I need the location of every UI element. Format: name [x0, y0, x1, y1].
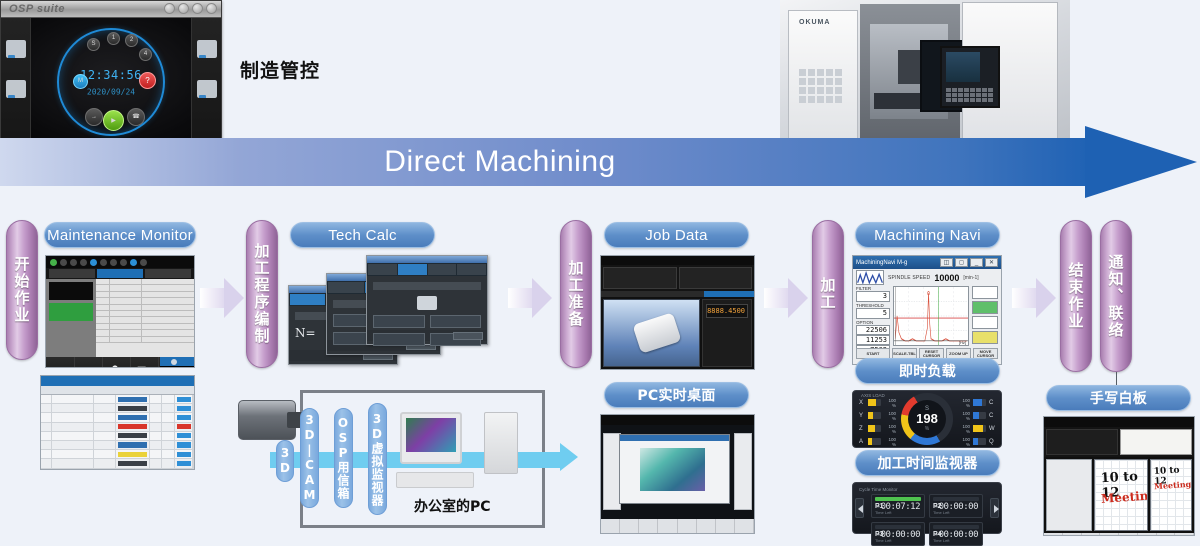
- mn-view-buttons[interactable]: [972, 286, 998, 346]
- lm-axis-label: Y: [859, 413, 865, 419]
- lm-axis-row: 100 %C: [958, 411, 995, 421]
- office-pc-tower: [484, 412, 518, 474]
- flow-arrow-3-icon: [764, 278, 808, 318]
- tech-calc-dialog-front[interactable]: [366, 255, 488, 345]
- office-pc-caption: 办公室的PC: [414, 496, 491, 516]
- lm-window-title: AXIS LOAD: [861, 393, 885, 398]
- pill-3dcam[interactable]: 3D|CAM: [300, 408, 319, 508]
- lm-left-axes: X100 % Y100 % Z100 % A100 %: [859, 398, 896, 447]
- mm-status-box: [49, 282, 93, 300]
- manufacturing-control-label: 制造管控: [240, 56, 320, 83]
- maintenance-table-screenshot[interactable]: [40, 375, 195, 470]
- machine-left-cabinet: OKUMA: [788, 10, 858, 140]
- wb-upper-panels: [1044, 427, 1194, 457]
- lm-axis-label: W: [989, 426, 995, 432]
- ct-slot-time: -00:00:00: [934, 530, 978, 540]
- ct-slot: P4Time Left-00:00:00: [929, 522, 983, 546]
- card-label-job-data[interactable]: Job Data: [604, 222, 749, 248]
- stage-label-end-work: 结束作业: [1066, 262, 1087, 330]
- window-button-3[interactable]: [192, 3, 203, 14]
- pill-label-3d: 3D: [278, 446, 292, 476]
- card-label-machining-navi[interactable]: Machining Navi: [855, 222, 1000, 248]
- stage-label-machining-prep: 加工准备: [566, 260, 587, 328]
- surface-view-icon[interactable]: [972, 331, 998, 344]
- banner-title: Direct Machining: [0, 138, 1000, 186]
- dial-button-run[interactable]: ▶: [103, 110, 124, 131]
- dial-button-stm[interactable]: S: [87, 38, 100, 51]
- pd-main: [601, 425, 754, 519]
- osp-radial-dial[interactable]: 12:34:56 2020/09/24 S 1 2 4 M ? → ▶ ☎: [57, 28, 165, 136]
- close-icon[interactable]: ✕: [985, 258, 998, 267]
- ct-slot: P3Time Left-00:00:00: [871, 522, 925, 546]
- osp-window-buttons[interactable]: [164, 3, 217, 14]
- jd-panel-left: [603, 267, 677, 289]
- jd-panel-right: [679, 267, 753, 289]
- direct-machining-banner: Direct Machining: [0, 130, 1200, 194]
- pill-label-3d-virtual-monitor: 3D虚拟监视器: [369, 412, 386, 507]
- stage-pill-machining-prep[interactable]: 加工准备: [560, 220, 592, 368]
- card-label-maintenance-monitor[interactable]: Maintenance Monitor: [44, 222, 196, 248]
- window-button-4[interactable]: [206, 3, 217, 14]
- calc-button[interactable]: [373, 315, 425, 328]
- load-meter-widget[interactable]: AXIS LOAD X100 % Y100 % Z100 % A100 % S …: [852, 390, 1002, 448]
- table-row: [41, 413, 194, 422]
- maintenance-icon[interactable]: [197, 40, 217, 58]
- dial-button-4d[interactable]: 4: [139, 48, 152, 61]
- ct-next-button[interactable]: [990, 498, 999, 518]
- lm-axis-row: Y100 %: [859, 411, 896, 421]
- lm-gauge-value: 198: [916, 412, 938, 426]
- dial-button-mode[interactable]: M: [73, 74, 88, 89]
- stage-label-notify-contact: 通知、联络: [1106, 254, 1127, 339]
- pc-desktop-screenshot[interactable]: [600, 414, 755, 534]
- stage-label-program-creation: 加工程序编制: [252, 243, 273, 345]
- pd-toolbar[interactable]: [601, 415, 754, 425]
- jd-dro-value: 8888.4500: [706, 304, 748, 318]
- table-subheader: [41, 386, 194, 395]
- header-band: OSP suite 12:34:56: [0, 0, 1200, 200]
- mm-table: [96, 279, 194, 357]
- lm-axis-row: 100 %W: [958, 424, 995, 434]
- mn-window-buttons[interactable]: ◫ ◻ _ ✕: [940, 258, 998, 267]
- lm-axis-row: X100 %: [859, 398, 896, 408]
- dial-button-m1[interactable]: 1: [107, 32, 120, 45]
- osp-date: 2020/09/24: [87, 87, 135, 96]
- machining-navi-screenshot[interactable]: MachiningNavi M-g ◫ ◻ _ ✕ SPINDLE SPEED …: [852, 255, 1002, 365]
- pill-3d[interactable]: 3D: [276, 440, 294, 482]
- dialog-titlebar[interactable]: [367, 256, 487, 263]
- mn-speed-row: SPINDLE SPEED 10000 [min-1]: [853, 269, 1001, 286]
- lm-right-axes: 100 %C 100 %C 100 %W 100 %Q: [958, 398, 995, 447]
- jd-workpiece-model: [633, 313, 682, 355]
- monitor-screen: [406, 418, 456, 452]
- tech-calc-screenshot[interactable]: N=: [288, 255, 508, 370]
- machine-control-panel[interactable]: [940, 46, 1000, 108]
- minimize-icon[interactable]: _: [970, 258, 983, 267]
- cycle-time-monitor-widget[interactable]: Cycle Time Monitor P1Time Left-00:07:12 …: [852, 482, 1002, 534]
- osp-left-rail[interactable]: [1, 18, 31, 145]
- maintenance-monitor-screenshot[interactable]: [45, 255, 195, 368]
- table-row: [41, 450, 194, 459]
- lm-axis-row: A100 %: [859, 437, 896, 447]
- wb-note-large[interactable]: 10 to 12 Meeting: [1094, 459, 1148, 531]
- lm-axis-percent: 100 %: [884, 437, 896, 447]
- pill-3d-virtual-monitor[interactable]: 3D虚拟监视器: [368, 403, 387, 515]
- mm-program-icon[interactable]: [130, 357, 158, 368]
- lm-axis-percent: 100 %: [958, 437, 970, 447]
- ct-slot-time: -00:07:12: [876, 502, 920, 512]
- jd-softkeys[interactable]: [601, 369, 754, 370]
- spindle-unit-photo: [238, 400, 296, 440]
- wb-left-panel: [1046, 459, 1092, 531]
- flow-arrow-2-icon: [508, 278, 552, 318]
- window-button-2[interactable]: [178, 3, 189, 14]
- lm-axis-row: Z100 %: [859, 424, 896, 434]
- cnc-machine-photo: OKUMA: [780, 0, 1070, 148]
- workflow-area: 开始作业 Maintenance Monitor: [0, 200, 1200, 540]
- table-header-bar: [41, 376, 194, 386]
- calculator-icon[interactable]: [197, 80, 217, 98]
- table-row: [41, 459, 194, 468]
- job-data-screenshot[interactable]: 8888.4500: [600, 255, 755, 370]
- milling-tool-icon: [417, 296, 437, 310]
- ct-slot-time: -00:00:00: [876, 530, 920, 540]
- lm-axis-percent: 100 %: [884, 411, 896, 421]
- lm-axis-row: 100 %Q: [958, 437, 995, 447]
- stage-pill-notify-contact[interactable]: 通知、联络: [1100, 220, 1132, 372]
- ct-slot: P2Time Left-00:00:00: [929, 494, 983, 518]
- mm-user-stack[interactable]: [160, 357, 194, 368]
- osp-title-text: OSP suite: [9, 3, 65, 15]
- tool-data-icon[interactable]: [6, 80, 26, 98]
- jd-dro-panel: 8888.4500: [702, 299, 752, 367]
- lm-axis-label: X: [859, 400, 865, 406]
- table-row: [41, 441, 194, 450]
- machine-vent-grid: [799, 69, 842, 103]
- mn-threshold-input[interactable]: 5: [856, 308, 890, 319]
- office-keyboard: [396, 472, 474, 488]
- lm-axis-label: A: [859, 439, 865, 445]
- end-button[interactable]: [453, 332, 483, 340]
- calc-button[interactable]: [430, 315, 482, 328]
- ct-slots: P1Time Left-00:07:12 P2Time Left-00:00:0…: [871, 494, 983, 546]
- machine-panel-screen: [946, 52, 980, 82]
- pd-softkeys[interactable]: [601, 519, 754, 533]
- mn-speed-unit: [min-1]: [963, 275, 978, 281]
- window-button-1[interactable]: [164, 3, 175, 14]
- wb-message-panel: [1120, 429, 1192, 455]
- stage-label-start-work: 开始作业: [12, 256, 33, 324]
- lm-axis-label: Q: [989, 439, 995, 445]
- mm-tabs[interactable]: [46, 268, 194, 279]
- card-label-whiteboard[interactable]: 手写白板: [1046, 385, 1191, 411]
- office-monitor: [400, 412, 462, 464]
- lm-axis-label: Z: [859, 426, 865, 432]
- card-label-tech-calc[interactable]: Tech Calc: [290, 222, 435, 248]
- mn-window-title: MachiningNavi M-g: [856, 260, 907, 266]
- table-row: [41, 404, 194, 413]
- wb-main: 10 to 12 Meeting 10 to 12 Meeting: [1044, 457, 1194, 533]
- mn-speed-value: 10000: [934, 273, 959, 283]
- mn-titlebar[interactable]: MachiningNavi M-g ◫ ◻ _ ✕: [853, 256, 1001, 269]
- lm-spindle-gauge: S 198 %: [901, 393, 953, 445]
- mn-frequency-chart[interactable]: [Hz]: [893, 286, 969, 346]
- stage-pill-machining[interactable]: 加工: [812, 220, 844, 368]
- osp-clock: 12:34:56: [80, 68, 142, 82]
- calc-button[interactable]: [373, 333, 425, 346]
- table-body: [41, 395, 194, 470]
- lm-axis-percent: 100 %: [958, 398, 970, 408]
- pill-label-3dcam: 3D|CAM: [303, 413, 317, 503]
- restore-icon[interactable]: ◫: [940, 258, 953, 267]
- mn-params: FILTER 3 THRESHOLD 5 OPTION 22506 11253 …: [856, 286, 890, 346]
- card-label-load-meter[interactable]: 即时负载: [855, 358, 1000, 384]
- maximize-icon[interactable]: ◻: [955, 258, 968, 267]
- mm-machine-icon[interactable]: [74, 357, 102, 368]
- mm-content: [46, 279, 194, 357]
- ct-window-title: Cycle Time Monitor: [859, 487, 995, 492]
- stage-pill-end-work[interactable]: 结束作业: [1060, 220, 1092, 372]
- table-row: [41, 423, 194, 432]
- wb-toolbar[interactable]: [1044, 417, 1194, 427]
- jd-3d-view[interactable]: [603, 299, 700, 367]
- mn-option-value-1[interactable]: 22506: [856, 325, 890, 335]
- dial-button-help[interactable]: ?: [139, 72, 156, 89]
- jd-main: 8888.4500: [601, 297, 754, 369]
- mn-body: FILTER 3 THRESHOLD 5 OPTION 22506 11253 …: [853, 286, 1001, 348]
- card-label-cycle-time[interactable]: 加工时间监视器: [855, 450, 1000, 476]
- program-list-icon[interactable]: [6, 40, 26, 58]
- ct-slot: P1Time Left-00:07:12: [871, 494, 925, 518]
- table-row: [41, 432, 194, 441]
- lm-gauge-percent: %: [925, 426, 929, 432]
- ct-slot-time: -00:00:00: [934, 502, 978, 512]
- table-row: [41, 395, 194, 404]
- flow-arrow-4-icon: [1012, 278, 1056, 318]
- lm-axis-row: 100 %C: [958, 398, 995, 408]
- dial-button-m2[interactable]: 2: [125, 34, 138, 47]
- machine-brand-logo: OKUMA: [799, 19, 830, 26]
- wb-note-small[interactable]: 10 to 12 Meeting: [1150, 459, 1192, 531]
- pd-cam-window[interactable]: [619, 434, 729, 504]
- mn-speed-label: SPINDLE SPEED: [888, 275, 930, 281]
- lm-axis-percent: 100 %: [884, 424, 896, 434]
- mm-toolbar[interactable]: [46, 256, 194, 268]
- mn-option-value-2[interactable]: 11253: [856, 335, 890, 345]
- table-view-icon[interactable]: [972, 316, 998, 329]
- connector-line: [1116, 372, 1117, 386]
- mn-axis-unit: [Hz]: [959, 340, 966, 345]
- lm-axis-percent: 100 %: [884, 398, 896, 408]
- wb-status-panel: [1046, 429, 1118, 455]
- lm-axis-label: C: [989, 413, 995, 419]
- pd-3d-model: [640, 448, 705, 491]
- lm-axis-percent: 100 %: [958, 411, 970, 421]
- osp-titlebar: OSP suite: [1, 1, 221, 18]
- mm-operator-icon[interactable]: [102, 357, 130, 368]
- lm-axis-label: C: [989, 400, 995, 406]
- mn-filter-input[interactable]: 3: [856, 291, 890, 302]
- card-label-pc-desktop[interactable]: PC实时桌面: [604, 382, 749, 408]
- flow-arrow-1-icon: [200, 278, 244, 318]
- stage-pill-program-creation[interactable]: 加工程序编制: [246, 220, 278, 368]
- lm-axis-percent: 100 %: [958, 424, 970, 434]
- mm-sidebar: [46, 279, 96, 357]
- pill-label-osp-mailbox: OSP用信箱: [335, 416, 352, 500]
- dialog-body: [367, 276, 487, 330]
- osp-right-rail[interactable]: [191, 18, 221, 145]
- wb-softkeys[interactable]: [1044, 533, 1194, 536]
- pd-window-titlebar[interactable]: [620, 435, 728, 441]
- stage-pill-start-work[interactable]: 开始作业: [6, 220, 38, 360]
- chart-view-icon[interactable]: [972, 286, 998, 299]
- dial-button-in[interactable]: →: [85, 108, 103, 126]
- mm-taskbar[interactable]: [46, 357, 194, 368]
- whiteboard-screenshot[interactable]: 10 to 12 Meeting 10 to 12 Meeting: [1043, 416, 1195, 536]
- stage-label-machining: 加工: [818, 277, 839, 311]
- pd-right-panel: [734, 433, 752, 510]
- pill-osp-mailbox[interactable]: OSP用信箱: [334, 408, 353, 508]
- dial-button-call[interactable]: ☎: [127, 108, 145, 126]
- waveform-icon[interactable]: [856, 270, 884, 285]
- mm-ok-box: [49, 303, 93, 321]
- banner-arrowhead-icon: [1085, 126, 1197, 198]
- table-row: [41, 469, 194, 471]
- data-flow-arrow-icon: [560, 443, 578, 471]
- jd-toolbar[interactable]: [601, 256, 754, 265]
- profile-view-icon[interactable]: [972, 301, 998, 314]
- machine-panel-keys[interactable]: [946, 88, 993, 102]
- dialog-tabs[interactable]: [367, 263, 487, 276]
- jd-top-panels: [601, 265, 754, 291]
- ct-prev-button[interactable]: [855, 498, 864, 518]
- osp-body: 12:34:56 2020/09/24 S 1 2 4 M ? → ▶ ☎: [1, 18, 221, 145]
- table-row: [96, 337, 194, 343]
